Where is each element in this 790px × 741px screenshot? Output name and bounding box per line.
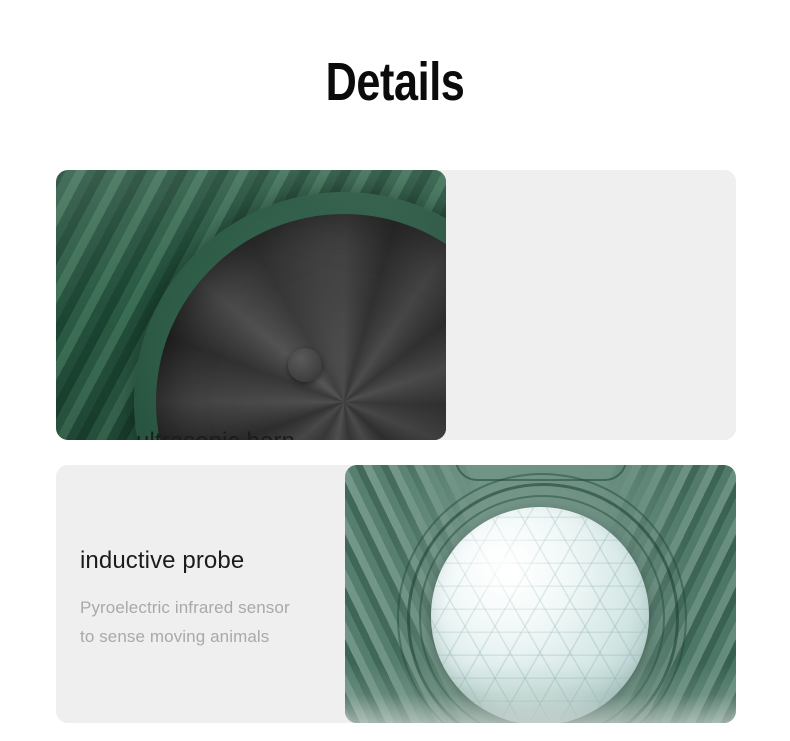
page-title: Details xyxy=(79,52,711,112)
ultrasonic-horn-text-pane xyxy=(446,170,736,440)
horn-center-dome xyxy=(288,348,322,382)
inductive-probe-body-line-1: Pyroelectric infrared sensor xyxy=(80,593,290,622)
detail-card-ultrasonic-horn: ultrasonic horn Can emit high frequency … xyxy=(56,170,736,440)
inductive-probe-photo xyxy=(345,465,736,723)
inductive-probe-heading: inductive probe xyxy=(80,547,244,575)
probe-base-shadow xyxy=(345,663,736,723)
inductive-probe-body-line-2: to sense moving animals xyxy=(80,622,269,651)
detail-card-inductive-probe: inductive probe Pyroelectric infrared se… xyxy=(56,465,736,723)
ultrasonic-horn-photo xyxy=(56,170,446,440)
ultrasonic-horn-heading: ultrasonic horn xyxy=(136,428,295,440)
